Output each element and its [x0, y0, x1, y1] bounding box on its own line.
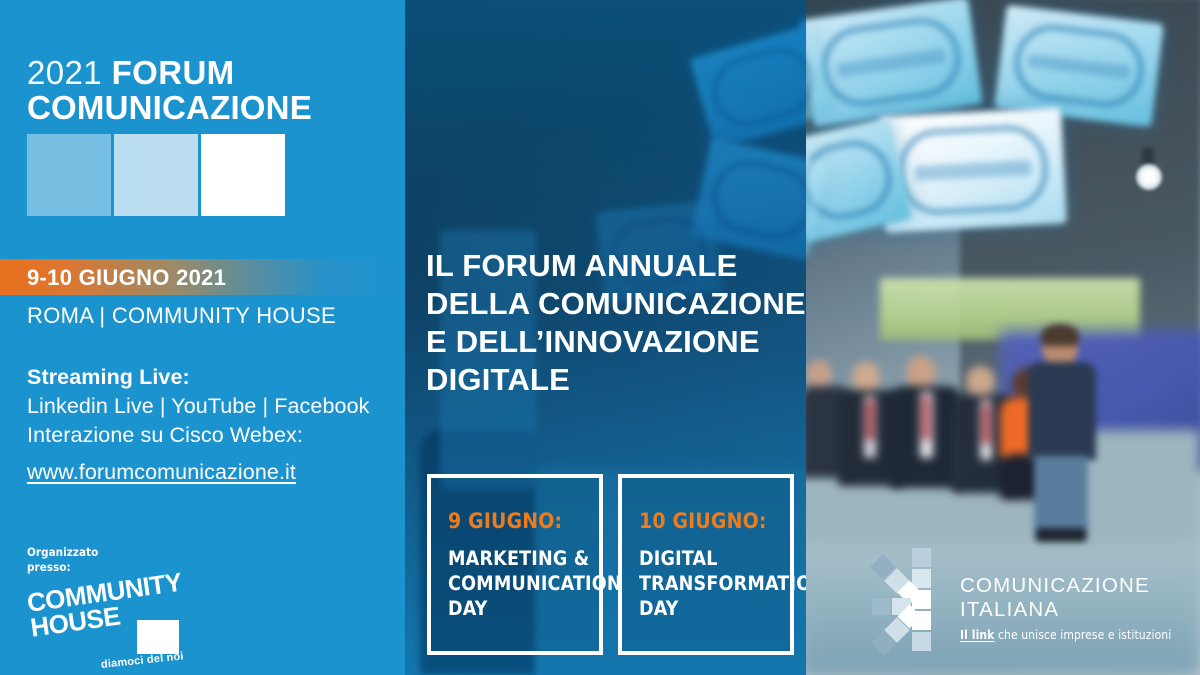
- headline-line-2: DELLA COMUNICAZIONE: [426, 285, 806, 323]
- organizer-block: Organizzato presso: COMMUNITY HOUSE diam…: [27, 545, 257, 575]
- sponsor-logo: COMUNICAZIONE ITALIANA Il link che unisc…: [872, 548, 1172, 652]
- photo-spotlight: [1136, 164, 1162, 190]
- day-card-2-title: DIGITAL TRANSFORMATION DAY: [639, 546, 782, 621]
- speech-bubble-mark-icon: [27, 134, 285, 256]
- day-card-1-title: MARKETING & COMMUNICATION DAY: [448, 546, 591, 621]
- mark-square-2: [114, 134, 198, 216]
- headline-line-3: E DELL’INNOVAZIONE: [426, 323, 806, 361]
- center-panel: IL FORUM ANNUALE DELLA COMUNICAZIONE E D…: [405, 0, 806, 675]
- headline-line-1: IL FORUM ANNUALE: [426, 247, 806, 285]
- day-card-2-date: 10 GIUGNO:: [639, 509, 767, 533]
- mark-square-3: [201, 134, 285, 216]
- brand-line-2: COMUNICAZIONE: [27, 90, 377, 126]
- sponsor-tagline-rest: che unisce imprese e istituzioni: [994, 628, 1171, 642]
- day-card-2[interactable]: 10 GIUGNO: DIGITAL TRANSFORMATION DAY: [618, 474, 794, 655]
- event-venue: ROMA | COMMUNITY HOUSE: [27, 303, 336, 329]
- mark-tail-2: [114, 216, 198, 256]
- streaming-interaction: Interazione su Cisco Webex:: [27, 421, 397, 450]
- event-dates: 9-10 GIUGNO 2021: [27, 265, 226, 291]
- brand-line-1: 2021 FORUM: [27, 56, 377, 90]
- day-card-1-date: 9 GIUGNO:: [448, 509, 562, 533]
- streaming-label: Streaming Live:: [27, 363, 397, 392]
- community-house-bubble-icon: [137, 620, 179, 654]
- community-house-logo: COMMUNITY HOUSE diamoci del noi: [27, 581, 227, 667]
- mark-tail-3: [201, 216, 285, 256]
- sponsor-name: COMUNICAZIONE ITALIANA: [960, 574, 1150, 622]
- organizer-kicker: Organizzato presso:: [27, 545, 257, 575]
- sponsor-tagline-bold: Il link: [960, 628, 994, 642]
- sponsor-name-line-1: COMUNICAZIONE: [960, 574, 1150, 598]
- mark-square-1: [27, 134, 111, 216]
- streaming-channels: Linkedin Live | YouTube | Facebook: [27, 392, 397, 421]
- sponsor-name-line-2: ITALIANA: [960, 598, 1150, 622]
- event-date-band: 9-10 GIUGNO 2021: [0, 259, 405, 295]
- left-panel: 2021 FORUM COMUNICAZIONE 9-10 GIUGNO 202…: [0, 0, 405, 675]
- headline-line-4: DIGITALE: [426, 361, 806, 399]
- photo-standing-speaker: [1028, 328, 1100, 540]
- brand-year: 2021: [27, 54, 102, 91]
- event-brand-lockup: 2021 FORUM COMUNICAZIONE: [27, 56, 377, 126]
- event-website-link[interactable]: www.forumcomunicazione.it: [27, 460, 296, 485]
- organizer-kicker-line-1: Organizzato: [27, 545, 257, 560]
- photo-spotlight-stem: [1142, 148, 1154, 164]
- sponsor-tagline: Il link che unisce imprese e istituzioni: [960, 628, 1171, 642]
- day-card-1[interactable]: 9 GIUGNO: MARKETING & COMMUNICATION DAY: [427, 474, 603, 655]
- brand-forum: FORUM: [112, 54, 235, 91]
- main-headline: IL FORUM ANNUALE DELLA COMUNICAZIONE E D…: [426, 247, 806, 399]
- poster-canvas: IL FORUM ANNUALE DELLA COMUNICAZIONE E D…: [0, 0, 1200, 675]
- streaming-block: Streaming Live: Linkedin Live | YouTube …: [27, 363, 397, 485]
- radial-square-burst-icon: [872, 548, 940, 648]
